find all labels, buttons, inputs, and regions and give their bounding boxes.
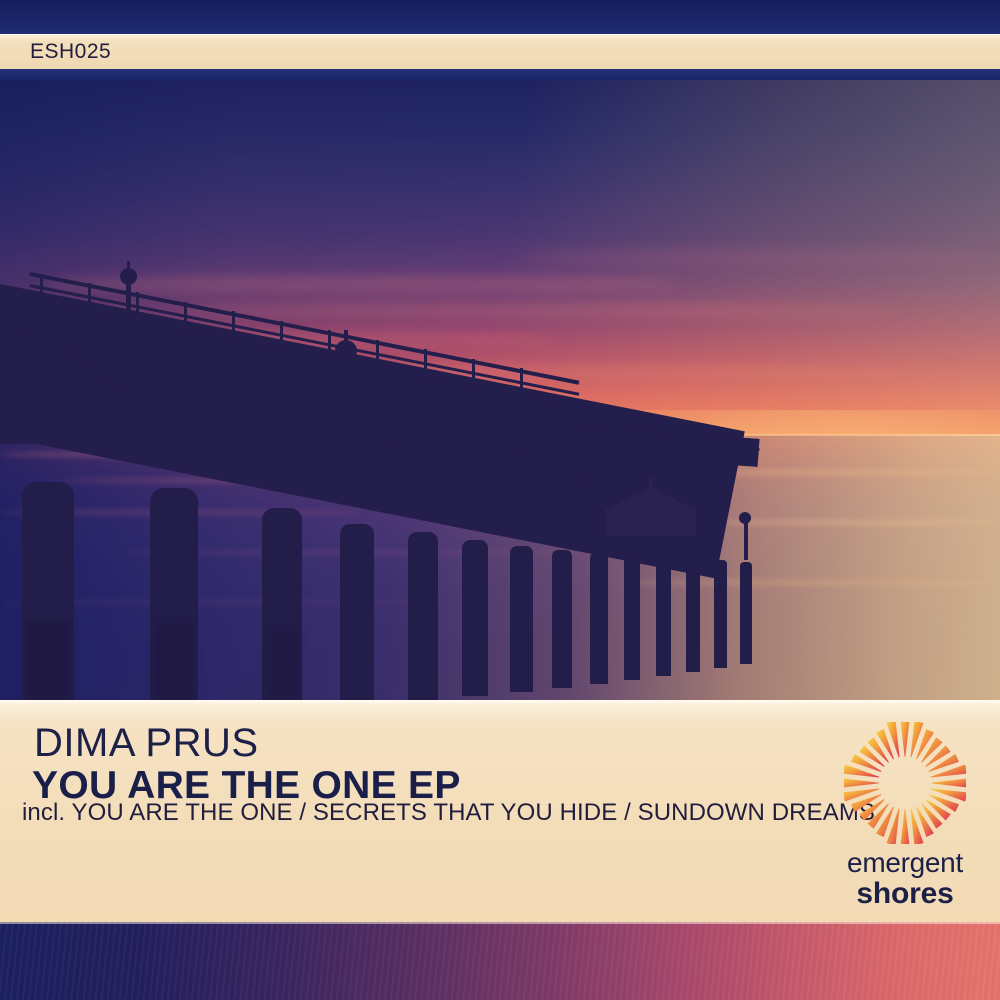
label-name-light: emergent [830, 848, 980, 878]
pier-lamp-globe [379, 440, 393, 454]
pier-lamp-post [384, 450, 388, 490]
pier-piling [740, 562, 752, 664]
cover-photograph [0, 80, 1000, 700]
railing-post [232, 311, 235, 337]
label-name: emergent shores [830, 848, 980, 910]
pier-silhouette [0, 80, 1000, 700]
album-cover: ESH025 [0, 0, 1000, 1000]
pier-lamp-globe [739, 512, 751, 524]
top-navy-band [0, 0, 1000, 34]
pier-lamp-globe [578, 476, 591, 489]
pier-piling [624, 554, 640, 680]
top-navy-band-lower [0, 69, 1000, 80]
pier-piling [590, 552, 608, 684]
pier-lamp-post [516, 448, 521, 510]
railing-post [424, 349, 427, 375]
sunburst-ring-icon [844, 722, 966, 844]
pier-lamp-post [583, 484, 587, 534]
label-logo: emergent shores [830, 722, 980, 912]
pier-lamp-globe [699, 506, 712, 519]
pier-piling [714, 560, 727, 668]
pier-piling [510, 546, 533, 692]
pier-lamp-globe [511, 438, 526, 453]
pier-lamp-post [126, 279, 131, 349]
tracklist-line: incl. YOU ARE THE ONE / SECRETS THAT YOU… [22, 800, 875, 826]
pier-lamp-post [340, 361, 352, 375]
bottom-gradient-strip [0, 922, 1000, 1000]
railing-post [88, 283, 91, 309]
info-panel-topline [0, 700, 1000, 703]
piling-reflection [26, 620, 70, 700]
railing-post [376, 340, 379, 366]
pier-piling [686, 558, 700, 672]
pier-piling [340, 524, 374, 700]
pier-lamp-globe [335, 340, 357, 362]
piling-reflection [266, 632, 298, 700]
pier-roundhouse-finial [649, 478, 653, 490]
pier-piling [552, 550, 572, 688]
pier-roundhouse-base [598, 536, 704, 550]
pier-lamp-globe [120, 268, 137, 285]
pier-lamp-finial [127, 261, 130, 270]
pier-lamp-finial [344, 330, 348, 342]
label-name-bold: shores [830, 878, 980, 910]
railing-post [40, 274, 43, 300]
railing-post [184, 302, 187, 328]
catalog-number: ESH025 [30, 40, 111, 64]
railing-post [280, 321, 283, 347]
pier-lamp-post [704, 514, 708, 558]
pier-lamp-post [343, 370, 349, 462]
pier-piling [408, 532, 438, 700]
artist-name: DIMA PRUS [34, 723, 259, 763]
pier-piling [656, 556, 671, 676]
bottom-strip-texture [0, 922, 1000, 1000]
pier-piling [462, 540, 488, 696]
railing-post [520, 368, 523, 394]
catalog-banner [0, 34, 1000, 69]
piling-reflection [154, 625, 194, 700]
railing-post [328, 330, 331, 356]
bottom-strip-topline [0, 922, 1000, 924]
pier-lamp-post [744, 520, 748, 560]
railing-post [136, 292, 139, 318]
railing-post [472, 359, 475, 385]
